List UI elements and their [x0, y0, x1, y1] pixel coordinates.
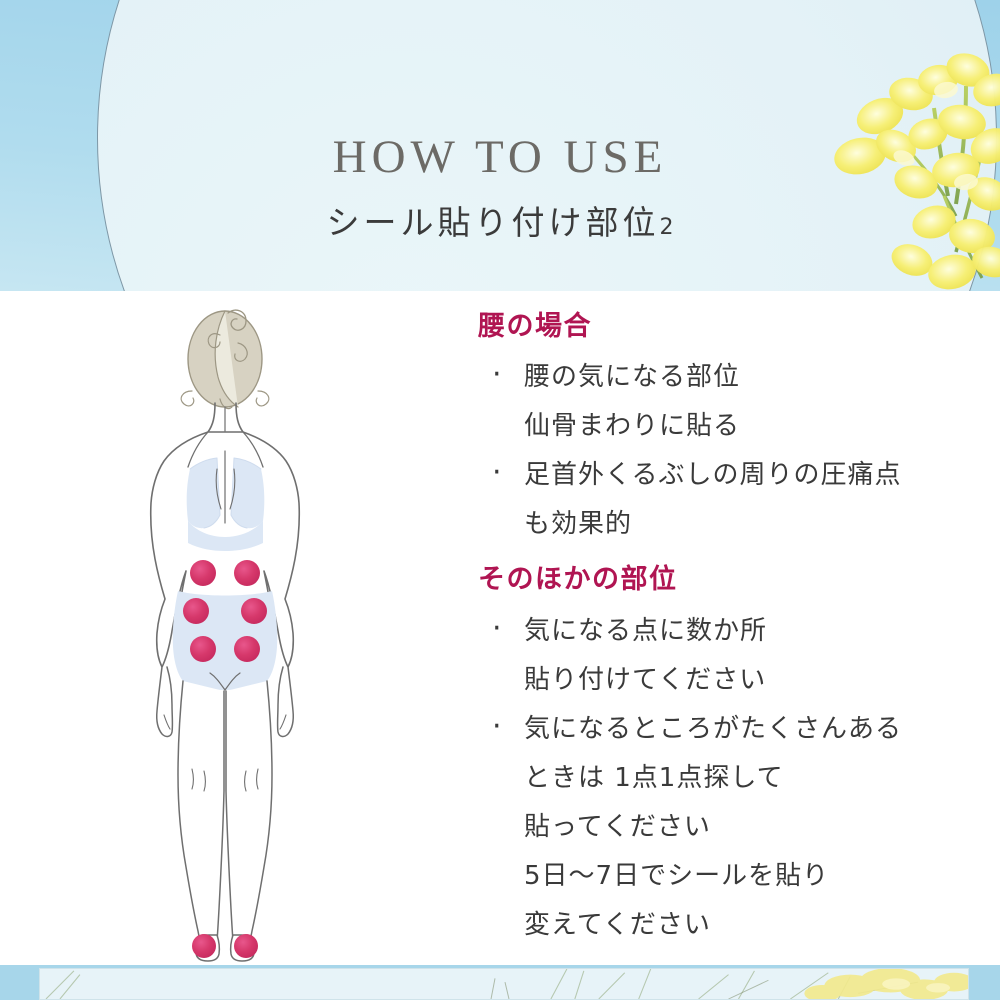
page-title-jp-number: 2 [660, 215, 674, 240]
bullet-line: 足首外くるぶしの周りの圧痛点 [478, 451, 901, 500]
bottom-decoration-strip [0, 965, 1000, 1000]
ankle-marker-dots [192, 934, 258, 958]
page-title-jp-text: シール貼り付け部位 [327, 203, 660, 242]
bullet-line: 貼り付けてください [478, 656, 902, 705]
bullet-line: 気になるところがたくさんある [478, 705, 902, 754]
bullet-line: 変えてください [478, 901, 902, 950]
page-title-en: HOW TO USE [0, 134, 1000, 181]
bullet-line: 貼ってください [478, 803, 902, 852]
bullet-line: 仙骨まわりに貼る [478, 402, 901, 451]
header-banner: HOW TO USE シール貼り付け部位2 [0, 0, 1000, 291]
bottom-photo-panel [39, 968, 969, 1000]
how-to-use-infographic: HOW TO USE シール貼り付け部位2 [0, 0, 1000, 1000]
section-bullets-other-areas: 気になる点に数か所 貼り付けてください 気になるところがたくさんある ときは 1… [478, 607, 902, 950]
section-heading-other-areas: そのほかの部位 [478, 565, 678, 595]
bullet-line: 腰の気になる部位 [478, 353, 901, 402]
hair [181, 310, 269, 408]
bullet-line: ときは 1点1点探して [478, 754, 902, 803]
bullet-line: 5日〜7日でシールを貼り [478, 852, 902, 901]
bullet-line: も効果的 [478, 500, 901, 549]
body-diagram-illustration [120, 291, 370, 965]
section-heading-lower-back: 腰の場合 [478, 312, 592, 342]
section-bullets-lower-back: 腰の気になる部位 仙骨まわりに貼る 足首外くるぶしの周りの圧痛点 も効果的 [478, 353, 901, 549]
content-area: 腰の場合 腰の気になる部位 仙骨まわりに貼る 足首外くるぶしの周りの圧痛点 も効… [0, 291, 1000, 965]
bullet-line: 気になる点に数か所 [478, 607, 902, 656]
page-title-jp: シール貼り付け部位2 [0, 206, 1000, 239]
